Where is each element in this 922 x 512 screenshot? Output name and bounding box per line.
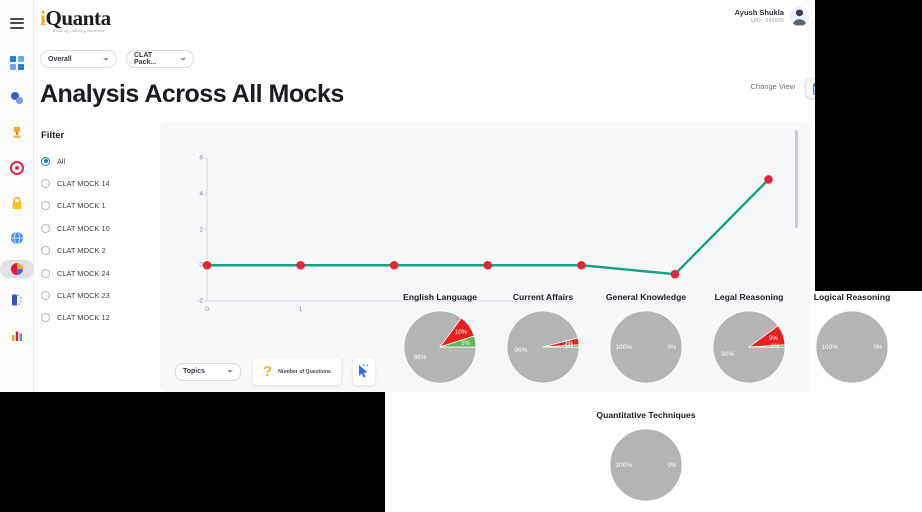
filter-option-all[interactable]: All xyxy=(41,150,153,172)
pie-chart-title: Quantitative Techniques xyxy=(582,410,710,420)
filter-option-label: CLAT MOCK 2 xyxy=(57,246,106,255)
filter-option-label: All xyxy=(57,157,65,166)
filter-option-clat-mock-24[interactable]: CLAT MOCK 24 xyxy=(41,262,153,284)
pie-analysis-icon xyxy=(10,262,24,276)
occluded-region-bottom xyxy=(0,392,385,512)
hamburger-menu-icon[interactable] xyxy=(0,10,34,36)
radio-icon[interactable] xyxy=(41,246,50,255)
filter-option-clat-mock-1[interactable]: CLAT MOCK 1 xyxy=(41,195,153,217)
user-name: Ayush Shukla xyxy=(735,8,784,17)
pie-svg: 96%3%1% xyxy=(499,307,587,387)
filter-option-label: CLAT MOCK 14 xyxy=(57,179,110,188)
cursor-pointer-icon xyxy=(357,364,370,379)
app-root: iQuanta Building Learning Networks Ayush… xyxy=(0,0,922,512)
chevron-down-icon xyxy=(227,370,233,373)
y-tick-label: 4 xyxy=(199,190,203,197)
radio-icon[interactable] xyxy=(41,291,50,300)
app-logo[interactable]: iQuanta Building Learning Networks xyxy=(40,6,111,33)
target-icon[interactable] xyxy=(0,155,34,181)
globe-icon[interactable] xyxy=(0,225,34,251)
topics-select-value: Topics xyxy=(183,368,205,375)
data-point[interactable] xyxy=(296,261,305,270)
y-tick-label: 0 xyxy=(199,262,203,269)
pie-slice-label: 100% xyxy=(615,462,632,469)
pie-slice-label: 0% xyxy=(874,345,883,351)
pie-svg: 90%9%1% xyxy=(705,307,793,387)
lock-icon[interactable] xyxy=(0,190,34,216)
bar-chart-icon[interactable] xyxy=(0,322,34,348)
y-tick-label: -2 xyxy=(197,298,203,305)
pie-svg: 100%0% xyxy=(602,307,690,387)
pie-chart-general-knowledge: General Knowledge100%0% xyxy=(602,292,690,387)
topics-select[interactable]: Topics xyxy=(175,363,241,381)
logo-tagline: Building Learning Networks xyxy=(53,29,111,33)
chart-controls: Topics ? Number of Questions xyxy=(175,358,375,385)
page-title: Analysis Across All Mocks xyxy=(40,80,344,109)
y-tick-label: 2 xyxy=(199,226,203,233)
pie-slice-label: 1% xyxy=(565,344,574,350)
pie-slice-label: 0% xyxy=(668,463,677,469)
pie-chart-title: Logical Reasoning xyxy=(788,292,916,302)
pie-slice-label: 1% xyxy=(771,344,780,350)
filter-option-label: CLAT MOCK 12 xyxy=(57,313,110,322)
pie-slice-label: 90% xyxy=(721,351,734,358)
pie-chart-legal-reasoning: Legal Reasoning90%9%1% xyxy=(705,292,793,387)
pie-svg: 100%0% xyxy=(808,307,896,387)
line-series xyxy=(207,179,769,274)
filter-option-clat-mock-14[interactable]: CLAT MOCK 14 xyxy=(41,172,153,194)
filter-option-clat-mock-2[interactable]: CLAT MOCK 2 xyxy=(41,240,153,262)
pie-slice-label: 5% xyxy=(461,341,470,347)
radio-icon[interactable] xyxy=(41,269,50,278)
pie-svg: 86%10%5% xyxy=(396,307,484,387)
user-uid: UID : 242935 xyxy=(735,18,784,25)
y-tick-label: 6 xyxy=(199,155,203,162)
pie-slice-label: 0% xyxy=(668,345,677,351)
data-point[interactable] xyxy=(203,261,212,270)
radio-icon[interactable] xyxy=(41,313,50,322)
chevron-down-icon xyxy=(103,58,109,61)
pie-chart-english-language: English Language86%10%5% xyxy=(396,292,484,387)
toolbar-selects: Overall CLAT Pack... xyxy=(40,50,194,68)
filter-panel: Filter AllCLAT MOCK 14CLAT MOCK 1CLAT MO… xyxy=(41,130,153,329)
package-select[interactable]: CLAT Pack... xyxy=(126,50,194,68)
data-point[interactable] xyxy=(671,270,680,279)
courses-icon[interactable] xyxy=(0,85,34,111)
x-tick-label: 1 xyxy=(299,306,303,313)
pie-slice-label: 96% xyxy=(514,347,527,354)
occluded-region-right xyxy=(815,0,922,291)
scope-select[interactable]: Overall xyxy=(40,50,117,68)
pie-chart-current-affairs: Current Affairs96%3%1% xyxy=(499,292,587,387)
x-tick-label: 0 xyxy=(205,306,209,313)
legend-label: Number of Questions xyxy=(278,369,331,375)
filter-option-clat-mock-12[interactable]: CLAT MOCK 12 xyxy=(41,307,153,329)
radio-icon[interactable] xyxy=(41,179,50,188)
pie-slice-label: 9% xyxy=(769,336,778,342)
pie-chart-logical-reasoning: Logical Reasoning100%0% xyxy=(808,292,896,387)
dashboard-icon[interactable] xyxy=(0,50,34,76)
pie-chart-quantitative-techniques: Quantitative Techniques100%0% xyxy=(602,410,690,505)
filter-option-clat-mock-10[interactable]: CLAT MOCK 10 xyxy=(41,217,153,239)
chevron-down-icon xyxy=(180,58,186,61)
data-point[interactable] xyxy=(764,175,773,184)
pie-svg: 100%0% xyxy=(602,425,690,505)
user-avatar-icon xyxy=(790,7,809,26)
question-mark-icon: ? xyxy=(263,364,272,379)
filter-option-label: CLAT MOCK 24 xyxy=(57,269,110,278)
data-point[interactable] xyxy=(577,261,586,270)
pie-slice-label: 100% xyxy=(821,344,838,351)
cursor-card[interactable] xyxy=(353,358,375,385)
scope-select-value: Overall xyxy=(48,56,72,63)
logo-word: Quanta xyxy=(45,6,110,30)
filter-heading: Filter xyxy=(41,130,153,141)
legend-card[interactable]: ? Number of Questions xyxy=(253,358,341,385)
filter-option-label: CLAT MOCK 1 xyxy=(57,201,106,210)
filter-option-label: CLAT MOCK 23 xyxy=(57,291,110,300)
data-point[interactable] xyxy=(483,261,492,270)
filter-option-clat-mock-23[interactable]: CLAT MOCK 23 xyxy=(41,284,153,306)
pie-slice-label: 100% xyxy=(615,344,632,351)
pie-slice-label: 10% xyxy=(455,330,468,336)
trophy-icon[interactable] xyxy=(0,120,34,146)
radio-icon[interactable] xyxy=(41,201,50,210)
card-scrollbar[interactable] xyxy=(795,130,798,228)
filter-list: AllCLAT MOCK 14CLAT MOCK 1CLAT MOCK 10CL… xyxy=(41,150,153,329)
pie-slice-label: 86% xyxy=(414,354,427,361)
book-icon[interactable] xyxy=(0,287,34,313)
radio-icon[interactable] xyxy=(41,224,50,233)
data-point[interactable] xyxy=(390,261,399,270)
user-profile[interactable]: Ayush Shukla UID : 242935 xyxy=(735,7,809,26)
avatar[interactable] xyxy=(790,7,809,26)
sidebar-item-analysis[interactable] xyxy=(0,260,34,278)
change-view-label: Change View xyxy=(751,82,795,91)
package-select-value: CLAT Pack... xyxy=(134,52,167,66)
radio-icon[interactable] xyxy=(41,157,50,166)
filter-option-label: CLAT MOCK 10 xyxy=(57,224,110,233)
